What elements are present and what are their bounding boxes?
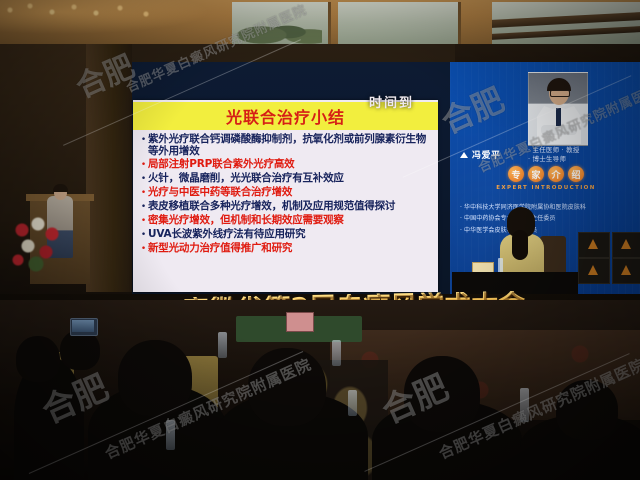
expert-title-line: · 主任医师 · 教授 <box>528 146 636 155</box>
slide-bullet: • 新型光动力治疗值得推广和研究 <box>139 243 434 256</box>
badge-chip: 绍 <box>568 166 584 182</box>
window-mullion <box>328 2 331 44</box>
expert-name: 冯爱平 <box>472 148 501 161</box>
slide-bullet: • 紫外光疗联合钙调磷酸酶抑制剂，抗氧化剂或前列腺素衍生物等外用增效 <box>139 134 434 158</box>
audience-head <box>60 330 100 370</box>
slide-bullet: • UVA长波紫外线疗法有待应用研究 <box>139 229 434 242</box>
bullet-dot-icon: • <box>139 134 148 147</box>
expert-intro-badge: 专 家 介 绍 <box>498 166 594 182</box>
presenter-hair <box>53 184 68 192</box>
slide-bullet: • 密集光疗增效，但机制和长期效应需要观察 <box>139 215 434 228</box>
badge-chip: 专 <box>508 166 524 182</box>
speaker-cone-icon <box>621 265 631 275</box>
bullet-dot-icon: • <box>139 159 148 172</box>
attendee-ponytail <box>512 230 528 260</box>
slide-bullet: • 表皮移植联合多种光疗增效，机制及应用规范值得探讨 <box>139 201 434 214</box>
wall-pillar <box>86 44 132 292</box>
time-up-overlay: 时间到 <box>369 92 414 111</box>
crossed-arms <box>541 125 577 135</box>
slide-bullet: • 局部注射PRP联合紫外光疗高效 <box>139 159 434 172</box>
bullet-text: UVA长波紫外线疗法有待应用研究 <box>148 229 305 241</box>
bullet-dot-icon: • <box>139 187 148 200</box>
audience-head <box>16 336 60 382</box>
water-bottle <box>520 388 529 422</box>
phone-screen <box>72 320 94 332</box>
slide-title: 光联合治疗小结 <box>226 104 345 128</box>
bullet-text: 局部注射PRP联合紫外光疗高效 <box>148 159 294 171</box>
slide-bullet: • 火针，微晶磨削，光光联合治疗有互补效应 <box>139 173 434 186</box>
triangle-marker-icon <box>460 152 468 158</box>
expert-titles: · 主任医师 · 教授 · 博士生导师 <box>528 146 636 165</box>
flower-arrangement <box>8 214 64 272</box>
speaker-stack <box>578 232 610 258</box>
speaker-stack <box>612 232 640 258</box>
trees-outside <box>236 14 322 44</box>
water-bottle <box>348 390 357 416</box>
bullet-text: 新型光动力治疗值得推广和研究 <box>148 243 292 255</box>
glasses-icon <box>550 90 570 97</box>
bullet-dot-icon: • <box>139 243 148 256</box>
table-sign-card <box>286 312 314 332</box>
audience-head <box>118 340 192 416</box>
speaker-cone-icon <box>621 239 631 249</box>
bullet-dot-icon: • <box>139 229 148 242</box>
expert-headshot <box>528 72 588 146</box>
window-mullion <box>458 2 461 44</box>
water-bottle <box>498 258 503 273</box>
conference-photo: 光联合治疗小结 • 紫外光疗联合钙调磷酸酶抑制剂，抗氧化剂或前列腺素衍生物等外用… <box>0 0 640 480</box>
water-bottle <box>332 340 341 366</box>
speaker-cone-icon <box>588 239 598 249</box>
water-bottle <box>166 420 175 450</box>
badge-english-label: EXPERT INTRODUCTION <box>482 185 610 191</box>
bullet-text: 火针，微晶磨削，光光联合治疗有互补效应 <box>148 173 344 185</box>
window-center <box>338 2 458 44</box>
audience-head <box>248 348 326 426</box>
audience-head <box>404 356 480 432</box>
bullet-dot-icon: • <box>139 201 148 214</box>
badge-chip: 介 <box>548 166 564 182</box>
slide-bullet: • 光疗与中医中药等联合治疗增效 <box>139 187 434 200</box>
bullet-dot-icon: • <box>139 173 148 186</box>
bullet-dot-icon: • <box>139 215 148 228</box>
expert-title-line: · 博士生导师 <box>528 155 636 164</box>
water-bottle <box>218 332 227 358</box>
bullet-text: 光疗与中医中药等联合治疗增效 <box>148 187 292 199</box>
badge-chip: 家 <box>528 166 544 182</box>
string-lights <box>0 0 200 26</box>
slide-bullet-list: • 紫外光疗联合钙调磷酸酶抑制剂，抗氧化剂或前列腺素衍生物等外用增效 • 局部注… <box>139 134 434 257</box>
bullet-text: 紫外光疗联合钙调磷酸酶抑制剂，抗氧化剂或前列腺素衍生物等外用增效 <box>148 134 434 158</box>
audience-head <box>556 380 618 440</box>
bullet-text: 表皮移植联合多种光疗增效，机制及应用规范值得探讨 <box>148 201 395 213</box>
bullet-text: 密集光疗增效，但机制和长期效应需要观察 <box>148 215 344 227</box>
presentation-slide: 光联合治疗小结 • 紫外光疗联合钙调磷酸酶抑制剂，抗氧化剂或前列腺素衍生物等外用… <box>133 100 438 292</box>
necktie <box>556 108 561 126</box>
speaker-cone-icon <box>588 265 598 275</box>
